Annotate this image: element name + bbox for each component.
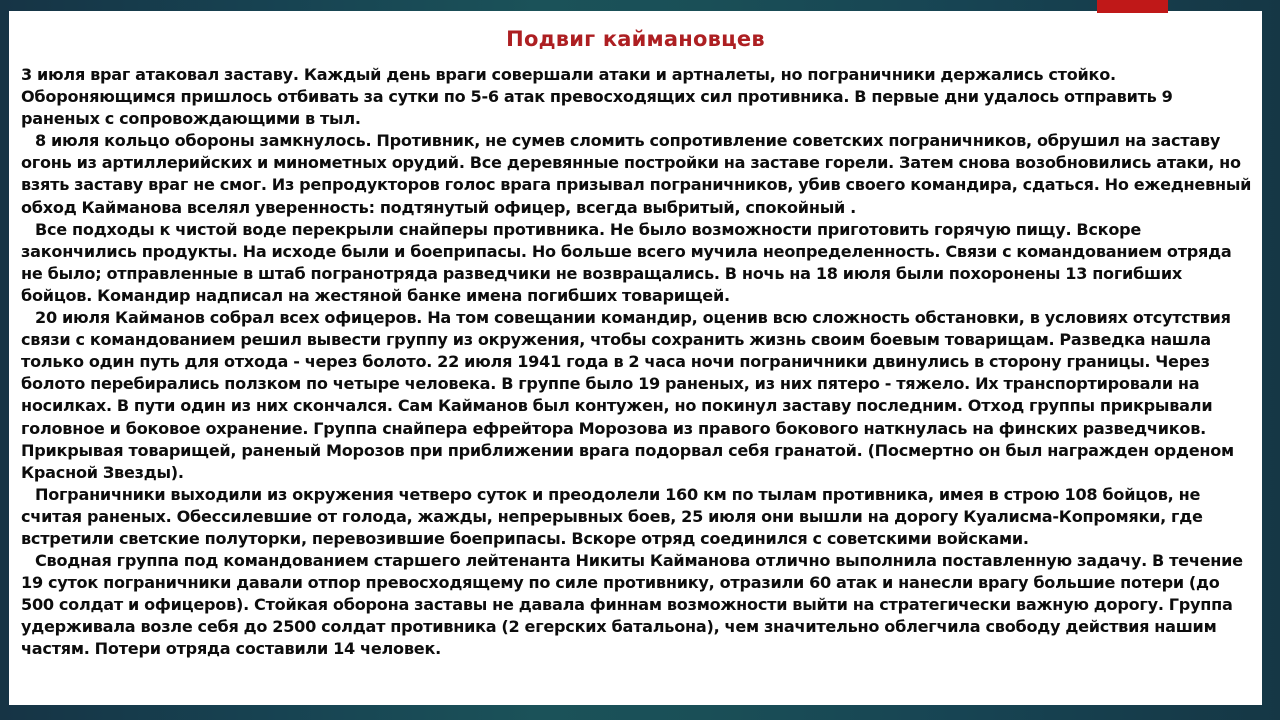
paragraph-3: Все подходы к чистой воде перекрыли снай… — [21, 219, 1253, 307]
presentation-slide: Подвиг каймановцев 3 июля враг атаковал … — [0, 0, 1280, 720]
paragraph-5: Пограничники выходили из окружения четве… — [21, 484, 1253, 550]
paragraph-1: 3 июля враг атаковал заставу. Каждый ден… — [21, 64, 1253, 130]
page-title: Подвиг каймановцев — [9, 27, 1262, 51]
paragraph-6: Сводная группа под командованием старшег… — [21, 550, 1253, 660]
paragraph-4: 20 июля Кайманов собрал всех офицеров. Н… — [21, 307, 1253, 484]
paragraph-2: 8 июля кольцо обороны замкнулось. Против… — [21, 130, 1253, 218]
body-text-block: 3 июля враг атаковал заставу. Каждый ден… — [21, 64, 1253, 661]
red-accent-block — [1097, 0, 1168, 13]
slide-content-card: Подвиг каймановцев 3 июля враг атаковал … — [9, 11, 1262, 705]
